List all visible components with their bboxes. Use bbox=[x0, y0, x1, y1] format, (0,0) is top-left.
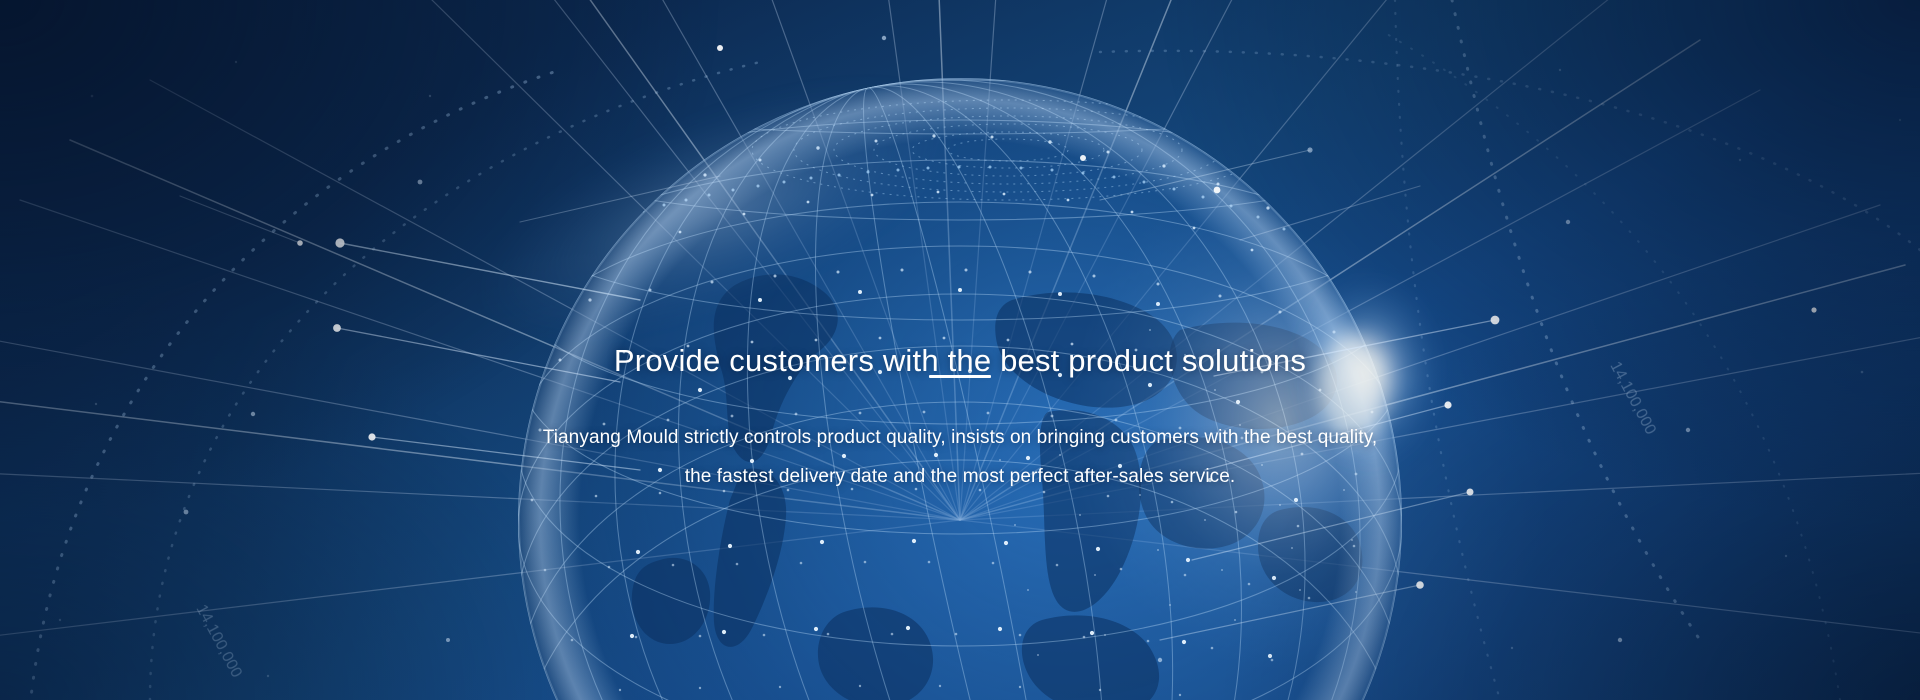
hero-banner: 14,100,000 14,100,000 bbox=[0, 0, 1920, 700]
corner-vignette bbox=[0, 0, 1920, 700]
